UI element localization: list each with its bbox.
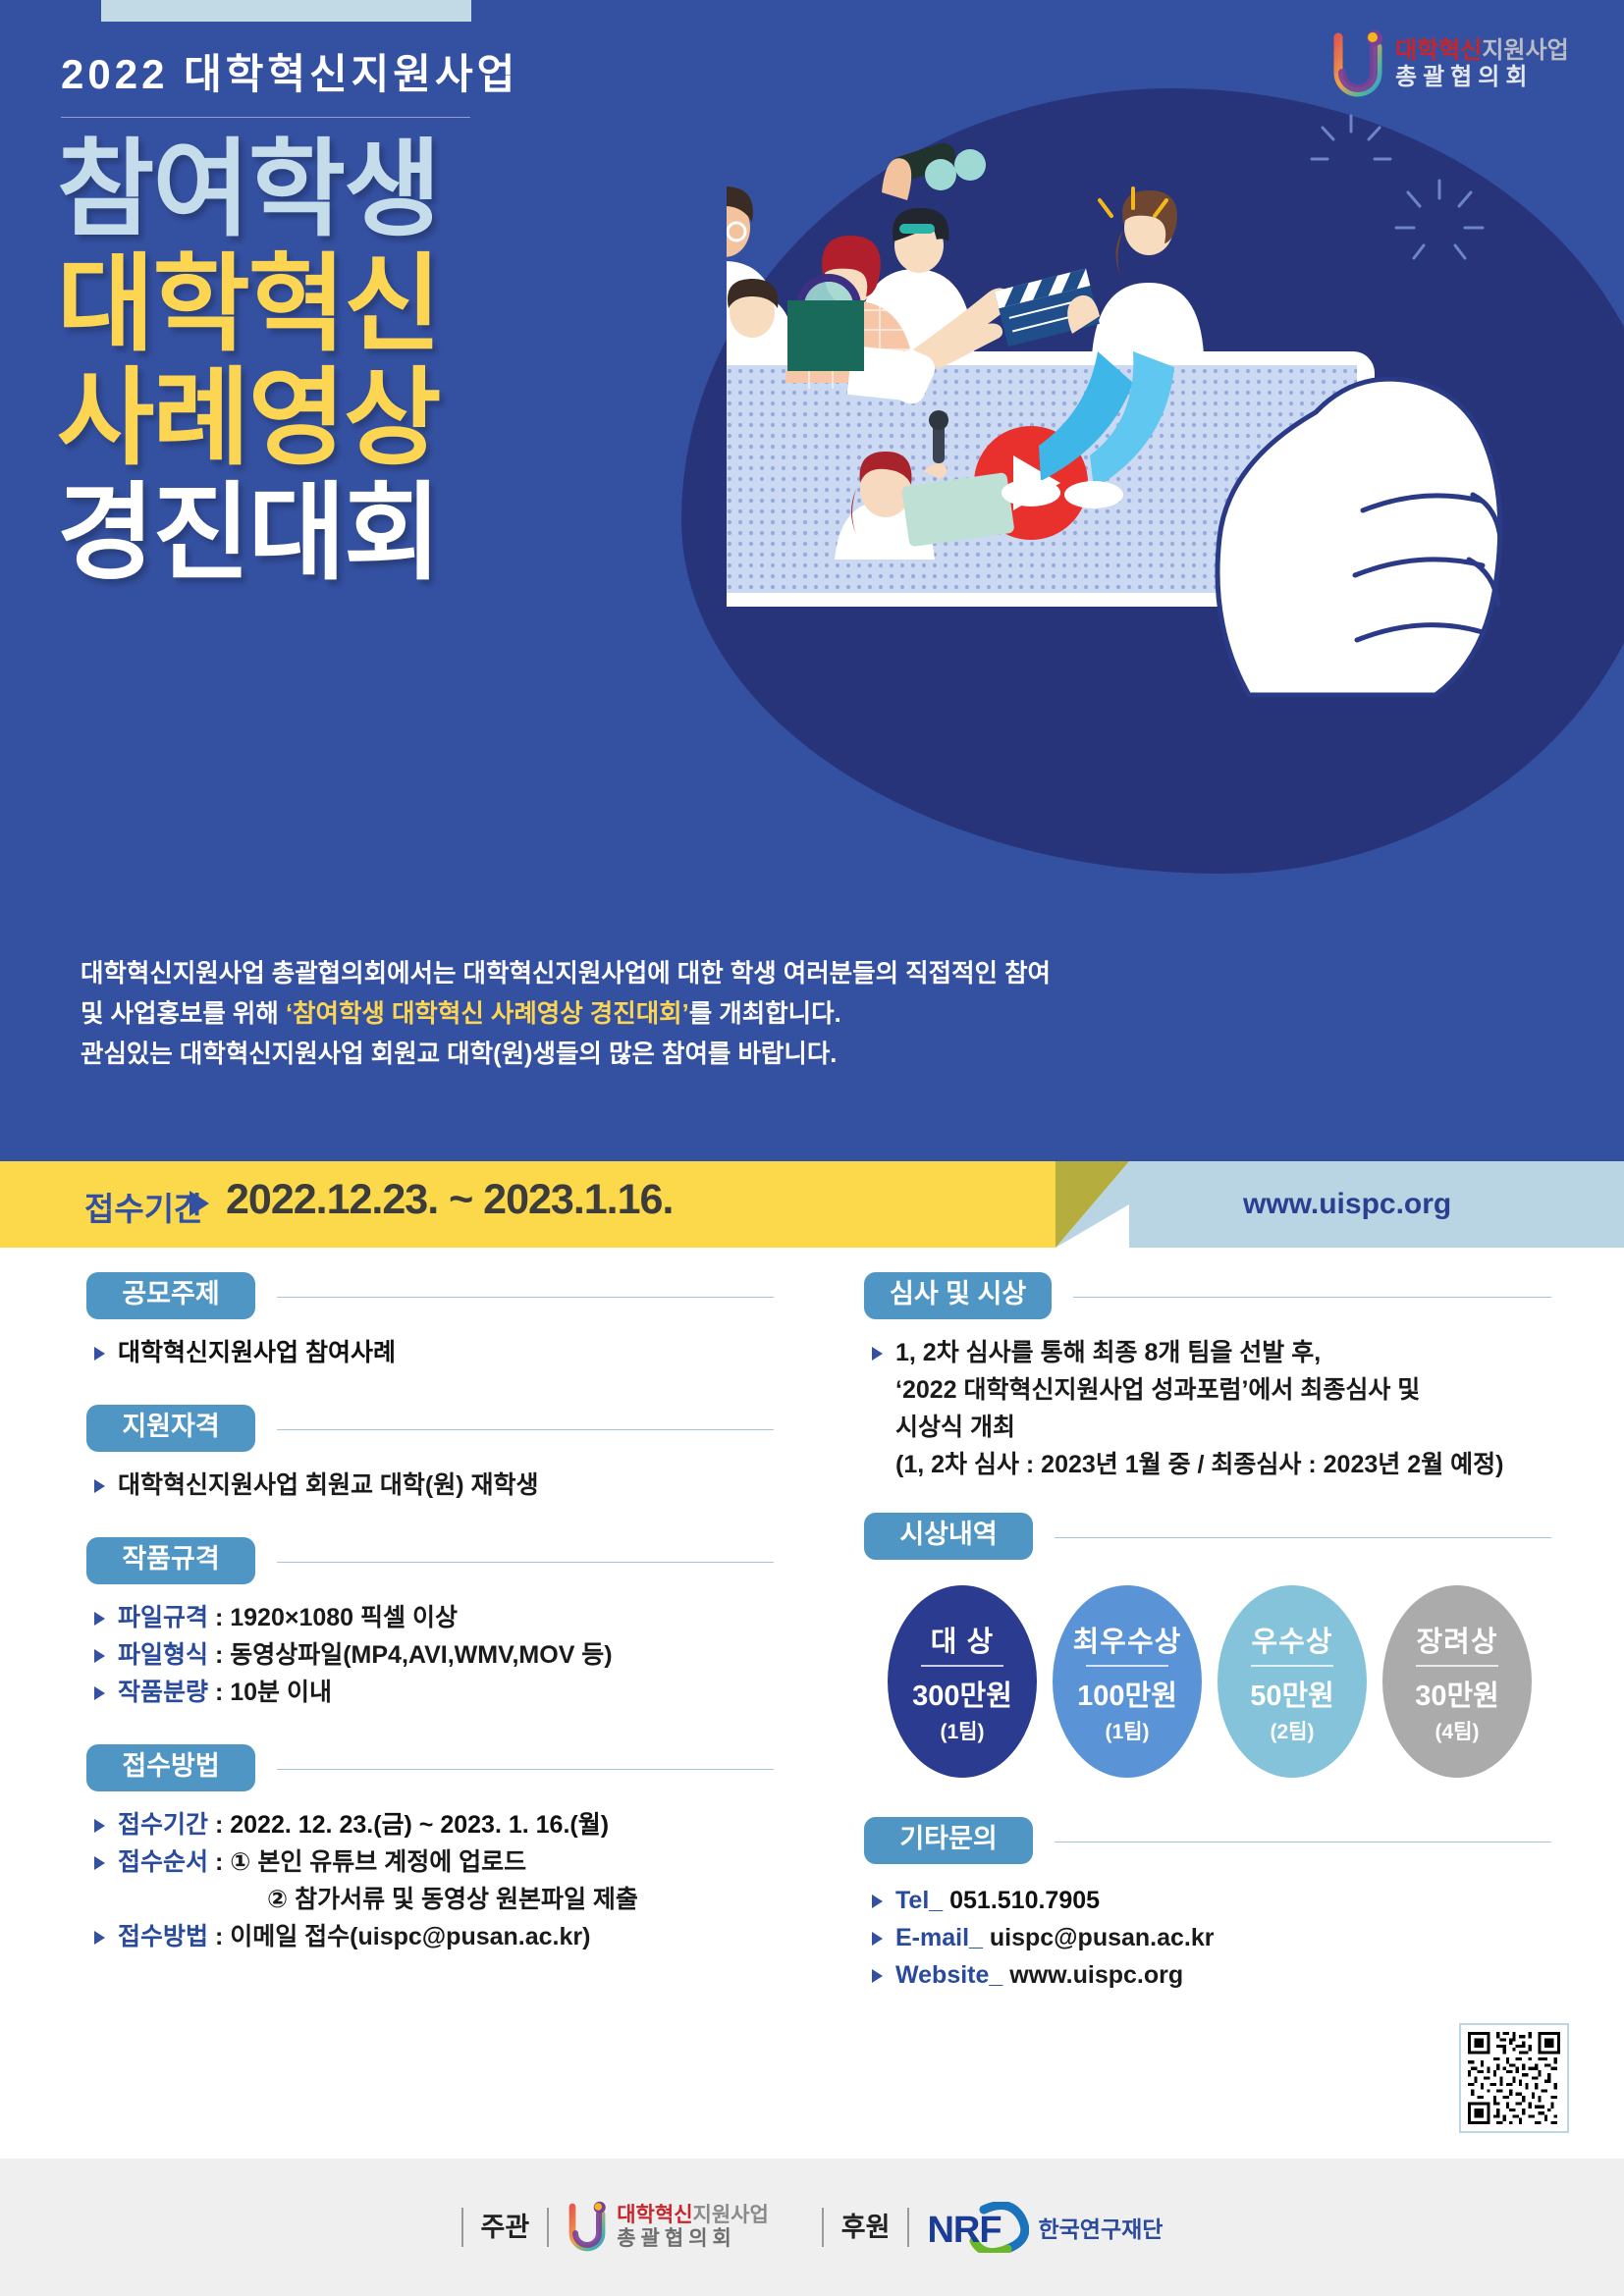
section-topic-title: 공모주제 <box>86 1272 255 1318</box>
footer-sponsor: 후원 NRF 한국연구재단 <box>822 2202 1164 2253</box>
section-eligibility-header: 지원자격 <box>86 1405 774 1452</box>
contact-label: Website_ <box>895 1961 1002 1989</box>
contact-value: 051.510.7905 <box>943 1887 1100 1914</box>
section-divider <box>1055 1537 1551 1538</box>
contact-row-tel: Tel_ 051.510.7905 <box>870 1882 1551 1919</box>
footer-organizer-logo: 대학혁신지원사업 총괄협의회 <box>567 2200 769 2255</box>
list-item: 파일형식 : 동영상파일(MP4,AVI,WMV,MOV 등) <box>92 1636 774 1674</box>
list-item: 접수순서 : ① 본인 유튜브 계정에 업로드 <box>92 1843 774 1881</box>
section-contact-list: Tel_ 051.510.7905 E-mail_ uispc@pusan.ac… <box>870 1882 1551 1994</box>
awards-group: 대 상 300만원 (1팀) 최우수상 100만원 (1팀) 우수상 <box>888 1585 1551 1778</box>
footer-sponsor-tag: 후원 <box>822 2208 910 2248</box>
footer-sponsor-logo: NRF 한국연구재단 <box>927 2202 1163 2253</box>
list-item: 접수기간 : 2022. 12. 23.(금) ~ 2023. 1. 16.(월… <box>92 1806 774 1843</box>
award-divider <box>1086 1665 1168 1667</box>
award-divider <box>1416 1665 1498 1667</box>
section-submission-title: 접수방법 <box>86 1744 255 1790</box>
brand-logo-subtitle: 총괄협의회 <box>1395 65 1569 91</box>
footer-logo-red-text: 대학혁신 <box>617 2204 692 2226</box>
section-judging: 심사 및 시상 1, 2차 심사를 통해 최종 8개 팀을 선발 후, ‘202… <box>864 1272 1551 1483</box>
details-right-column: 심사 및 시상 1, 2차 심사를 통해 최종 8개 팀을 선발 후, ‘202… <box>864 1272 1551 2003</box>
contact-row-email[interactable]: E-mail_ uispc@pusan.ac.kr <box>870 1919 1551 1956</box>
poster-root: 2022 대학혁신지원사업 대학혁신지원사업 총 <box>0 0 1624 2296</box>
sparkle-icon-2 <box>1312 116 1390 159</box>
lead-line-2: 및 사업홍보를 위해 ‘참여학생 대학혁신 사례영상 경진대회’를 개최합니다. <box>81 994 1239 1035</box>
sparkle-icon <box>1396 181 1483 258</box>
section-eligibility: 지원자격 대학혁신지원사업 회원교 대학(원) 재학생 <box>86 1405 774 1504</box>
award-teams: (4팀) <box>1435 1716 1480 1745</box>
spec-label: 작품분량 <box>118 1679 208 1706</box>
lead-line-3: 관심있는 대학혁신지원사업 회원교 대학(원)생들의 많은 참여를 바랍니다. <box>81 1035 1239 1075</box>
qr-code-icon <box>1468 2032 1560 2124</box>
award-name: 대 상 <box>931 1619 994 1660</box>
section-spec: 작품규격 파일규격 : 1920×1080 픽셀 이상 파일형식 : 동영상파일… <box>86 1537 774 1711</box>
list-item: 대학혁신지원사업 참여사례 <box>92 1334 774 1371</box>
brand-logo-red-text: 대학혁신 <box>1395 37 1482 64</box>
award-amount: 30만원 <box>1415 1673 1499 1714</box>
poster-title: 참여학생 대학혁신 사례영상 경진대회 <box>57 133 439 591</box>
play-triangle-icon <box>189 1191 209 1216</box>
award-amount: 50만원 <box>1250 1673 1334 1714</box>
section-divider <box>277 1562 774 1563</box>
contact-value: uispc@pusan.ac.kr <box>983 1924 1215 1951</box>
hero-section: 2022 대학혁신지원사업 대학혁신지원사업 총 <box>0 0 1624 1161</box>
spec-value: : 1920×1080 픽셀 이상 <box>208 1604 458 1631</box>
submission-sep: : <box>208 1811 230 1839</box>
submission-label: 접수기간 <box>118 1811 208 1839</box>
section-topic-header: 공모주제 <box>86 1272 774 1319</box>
u-swirl-logo-icon <box>567 2200 608 2255</box>
award-divider <box>921 1665 1003 1667</box>
qr-code-container[interactable] <box>1459 2023 1569 2133</box>
section-judging-list: 1, 2차 심사를 통해 최종 8개 팀을 선발 후, ‘2022 대학혁신지원… <box>870 1334 1551 1483</box>
contact-label: E-mail_ <box>895 1924 983 1951</box>
section-divider <box>277 1429 774 1430</box>
award-divider <box>1251 1665 1333 1667</box>
section-topic: 공모주제 대학혁신지원사업 참여사례 <box>86 1272 774 1371</box>
footer-organizer-tag: 주관 <box>461 2208 550 2248</box>
list-item: ② 참가서류 및 동영상 원본파일 제출 <box>92 1881 774 1918</box>
lead-line-2-post: 를 개최합니다. <box>689 1000 841 1028</box>
top-accent-tab <box>101 0 471 22</box>
title-line-4: 경진대회 <box>57 476 439 591</box>
list-item: 파일규격 : 1920×1080 픽셀 이상 <box>92 1599 774 1636</box>
section-contact-title: 기타문의 <box>864 1817 1033 1863</box>
submission-label: 접수방법 <box>118 1923 208 1950</box>
award-teams: (1팀) <box>941 1716 985 1745</box>
footer-logo-gray-text: 지원사업 <box>693 2204 769 2226</box>
section-judging-title: 심사 및 시상 <box>864 1272 1052 1318</box>
banner-label: 접수기간 <box>84 1183 203 1230</box>
award-amount: 100만원 <box>1077 1673 1177 1714</box>
section-divider <box>1055 1842 1551 1842</box>
u-swirl-logo-icon <box>1330 29 1385 100</box>
contact-row-website[interactable]: Website_ www.uispc.org <box>870 1956 1551 1994</box>
award-amount: 300만원 <box>912 1673 1012 1714</box>
section-eligibility-title: 지원자격 <box>86 1405 255 1451</box>
section-contact-header: 기타문의 <box>864 1817 1551 1864</box>
list-item: ‘2022 대학혁신지원사업 성과포럼’에서 최종심사 및 <box>870 1371 1551 1409</box>
spec-label: 파일규격 <box>118 1604 208 1631</box>
details-left-column: 공모주제 대학혁신지원사업 참여사례 지원자격 대학혁신지원사업 회원교 대학(… <box>86 1272 774 1965</box>
section-spec-list: 파일규격 : 1920×1080 픽셀 이상 파일형식 : 동영상파일(MP4,… <box>92 1599 774 1711</box>
section-judging-header: 심사 및 시상 <box>864 1272 1551 1319</box>
lead-paragraph: 대학혁신지원사업 총괄협의회에서는 대학혁신지원사업에 대한 학생 여러분들의 … <box>81 954 1239 1075</box>
contact-value: www.uispc.org <box>1002 1961 1183 1989</box>
award-name: 장려상 <box>1416 1619 1497 1660</box>
footer: 주관 대학혁신지원사업 총괄협의회 <box>0 2159 1624 2296</box>
section-submission: 접수방법 접수기간 : 2022. 12. 23.(금) ~ 2023. 1. … <box>86 1744 774 1955</box>
title-line-1: 참여학생 <box>57 133 439 247</box>
section-topic-list: 대학혁신지원사업 참여사례 <box>92 1334 774 1371</box>
section-awards-title: 시상내역 <box>864 1513 1033 1559</box>
section-spec-header: 작품규격 <box>86 1537 774 1584</box>
list-item: 1, 2차 심사를 통해 최종 8개 팀을 선발 후, <box>870 1334 1551 1371</box>
award-teams: (2팀) <box>1271 1716 1315 1745</box>
section-submission-header: 접수방법 <box>86 1744 774 1791</box>
section-divider <box>277 1297 774 1298</box>
list-item: 작품분량 : 10분 이내 <box>92 1674 774 1711</box>
list-item: 접수방법 : 이메일 접수(uispc@pusan.ac.kr) <box>92 1918 774 1955</box>
award-badge-excellence: 최우수상 100만원 (1팀) <box>1053 1585 1202 1778</box>
section-awards: 시상내역 대 상 300만원 (1팀) 최우수상 100만원 (1팀) <box>864 1513 1551 1778</box>
spec-label: 파일형식 <box>118 1641 208 1669</box>
spec-value: : 동영상파일(MP4,AVI,WMV,MOV 등) <box>208 1641 613 1669</box>
submission-label: 접수순서 <box>118 1848 208 1876</box>
lead-line-2-pre: 및 사업홍보를 위해 <box>81 1000 286 1028</box>
list-item: 시상식 개최 <box>870 1409 1551 1446</box>
submission-value: : 이메일 접수(uispc@pusan.ac.kr) <box>208 1923 590 1950</box>
banner-website-link[interactable]: www.uispc.org <box>1243 1188 1451 1221</box>
brand-logo: 대학혁신지원사업 총괄협의회 <box>1330 29 1569 100</box>
award-name: 최우수상 <box>1073 1619 1182 1660</box>
nrf-wordmark: NRF <box>927 2210 1001 2252</box>
section-divider <box>277 1769 774 1770</box>
kicker-divider <box>61 117 470 118</box>
spec-value: : 10분 이내 <box>208 1679 332 1706</box>
award-badge-grand: 대 상 300만원 (1팀) <box>888 1585 1037 1778</box>
footer-sponsor-name: 한국연구재단 <box>1038 2211 1163 2244</box>
title-line-2: 대학혁신 <box>57 247 439 362</box>
banner-dates: 2022.12.23. ~ 2023.1.16. <box>226 1176 673 1224</box>
kicker-text: 2022 대학혁신지원사업 <box>61 41 518 101</box>
hero-illustration <box>727 98 1624 785</box>
title-line-3: 사례영상 <box>57 361 439 476</box>
lead-line-1: 대학혁신지원사업 총괄협의회에서는 대학혁신지원사업에 대한 학생 여러분들의 … <box>81 954 1239 994</box>
footer-organizer: 주관 대학혁신지원사업 총괄협의회 <box>461 2200 769 2255</box>
footer-logo-subtitle: 총괄협의회 <box>617 2227 769 2251</box>
award-badge-merit: 우수상 50만원 (2팀) <box>1218 1585 1367 1778</box>
list-item: 대학혁신지원사업 회원교 대학(원) 재학생 <box>92 1467 774 1504</box>
details-section: 공모주제 대학혁신지원사업 참여사례 지원자격 대학혁신지원사업 회원교 대학(… <box>0 1248 1624 2159</box>
section-contact: 기타문의 Tel_ 051.510.7905 E-mail_ uispc@pus… <box>864 1817 1551 1994</box>
section-awards-header: 시상내역 <box>864 1513 1551 1560</box>
brand-logo-gray-text: 지원사업 <box>1482 37 1568 64</box>
award-name: 우수상 <box>1251 1619 1332 1660</box>
lead-highlight: ‘참여학생 대학혁신 사례영상 경진대회’ <box>286 1000 689 1028</box>
topic-item-text: 대학혁신지원사업 참여사례 <box>118 1339 396 1366</box>
submission-value: : ① 본인 유튜브 계정에 업로드 <box>208 1848 526 1876</box>
section-eligibility-list: 대학혁신지원사업 회원교 대학(원) 재학생 <box>92 1467 774 1504</box>
section-divider <box>1073 1297 1551 1298</box>
section-submission-list: 접수기간 : 2022. 12. 23.(금) ~ 2023. 1. 16.(월… <box>92 1806 774 1955</box>
list-item: (1, 2차 심사 : 2023년 1월 중 / 최종심사 : 2023년 2월… <box>870 1446 1551 1483</box>
section-spec-title: 작품규격 <box>86 1537 255 1583</box>
submission-dates: 2022. 12. 23.(금) ~ 2023. 1. 16.(월) <box>230 1811 609 1839</box>
contact-label: Tel_ <box>895 1887 943 1914</box>
award-teams: (1팀) <box>1106 1716 1150 1745</box>
award-badge-encouragement: 장려상 30만원 (4팀) <box>1382 1585 1532 1778</box>
date-banner: 접수기간 2022.12.23. ~ 2023.1.16. www.uispc.… <box>0 1161 1624 1248</box>
